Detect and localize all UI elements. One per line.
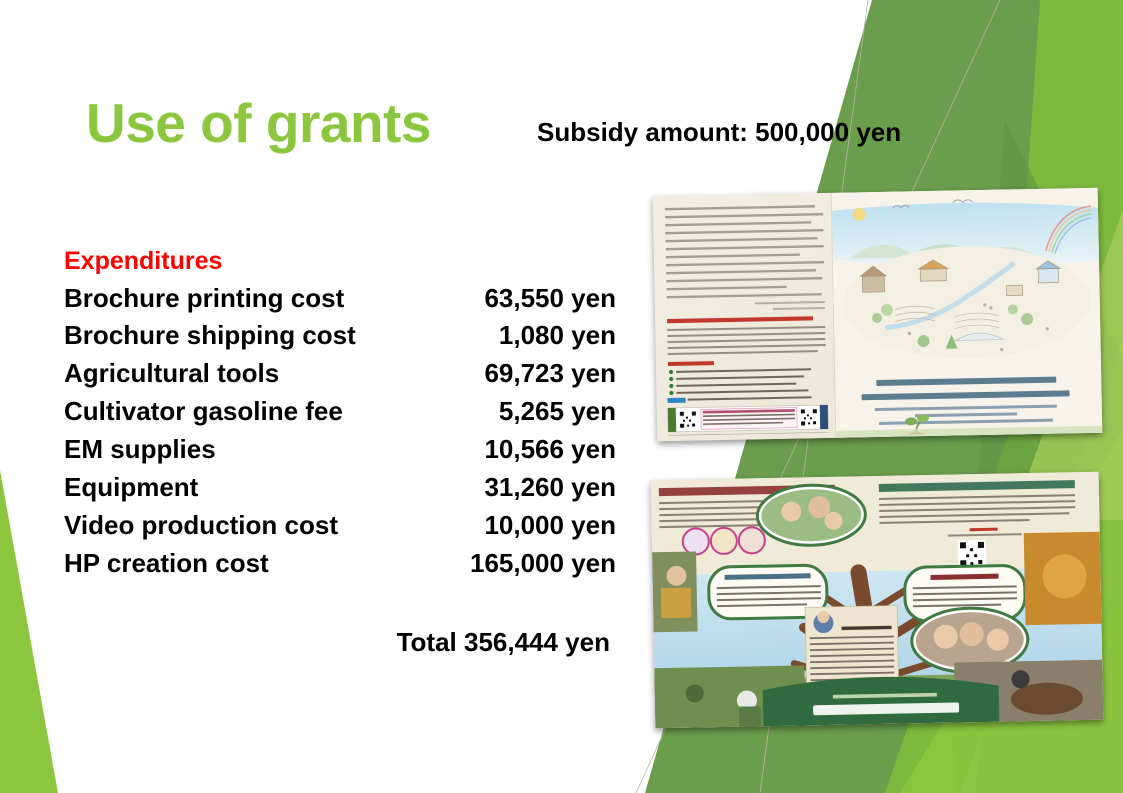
- expenditure-amount: 5,265 yen: [499, 393, 616, 431]
- expenditure-amount: 165,000 yen: [470, 545, 616, 583]
- expenditure-label: Agricultural tools: [64, 355, 279, 393]
- expenditure-label: Brochure shipping cost: [64, 317, 356, 355]
- expenditures-heading: Expenditures: [64, 248, 616, 276]
- youtube-label: [970, 528, 998, 532]
- expenditure-label: Equipment: [64, 469, 198, 507]
- slide-canvas: Use of grants Subsidy amount: 500,000 ye…: [0, 0, 1123, 793]
- total-amount-text: Total 356,444 yen: [64, 627, 610, 658]
- expenditure-label: Video production cost: [64, 507, 338, 545]
- expenditure-amount: 31,260 yen: [484, 469, 616, 507]
- expenditure-amount: 69,723 yen: [484, 355, 616, 393]
- qr-code-right: [800, 408, 818, 426]
- leaflet-application-box: [668, 405, 828, 432]
- expenditure-row: Equipment 31,260 yen: [64, 469, 616, 507]
- page-title: Use of grants: [86, 96, 431, 151]
- icon-badges: [683, 527, 765, 555]
- expenditure-amount: 1,080 yen: [499, 317, 616, 355]
- photo-bubble: [757, 484, 866, 546]
- expenditure-row: Agricultural tools 69,723 yen: [64, 355, 616, 393]
- expenditure-row: Video production cost 10,000 yen: [64, 507, 616, 545]
- expenditure-amount: 63,550 yen: [484, 280, 616, 318]
- expenditure-label: Brochure printing cost: [64, 280, 344, 318]
- expenditure-row: HP creation cost 165,000 yen: [64, 545, 616, 583]
- qr-code-left: [679, 410, 697, 428]
- expenditure-row: Brochure shipping cost 1,080 yen: [64, 317, 616, 355]
- brochure-front-image: [653, 188, 1103, 441]
- expenditure-row: EM supplies 10,566 yen: [64, 431, 616, 469]
- expenditure-row: Brochure printing cost 63,550 yen: [64, 280, 616, 318]
- expenditure-row: Cultivator gasoline fee 5,265 yen: [64, 393, 616, 431]
- expenditure-amount: 10,000 yen: [484, 507, 616, 545]
- expenditure-label: HP creation cost: [64, 545, 269, 583]
- expenditure-amount: 10,566 yen: [484, 431, 616, 469]
- expenditures-block: Expenditures Brochure printing cost 63,5…: [64, 248, 616, 583]
- expenditure-label: Cultivator gasoline fee: [64, 393, 343, 431]
- expenditure-label: EM supplies: [64, 431, 216, 469]
- brochure-inside-image: [651, 472, 1104, 729]
- shape-left-triangle: [0, 470, 58, 793]
- qr-code-youtube: [958, 540, 987, 569]
- leaflet-right-panel: [832, 188, 1103, 438]
- subsidy-amount-text: Subsidy amount: 500,000 yen: [537, 117, 901, 148]
